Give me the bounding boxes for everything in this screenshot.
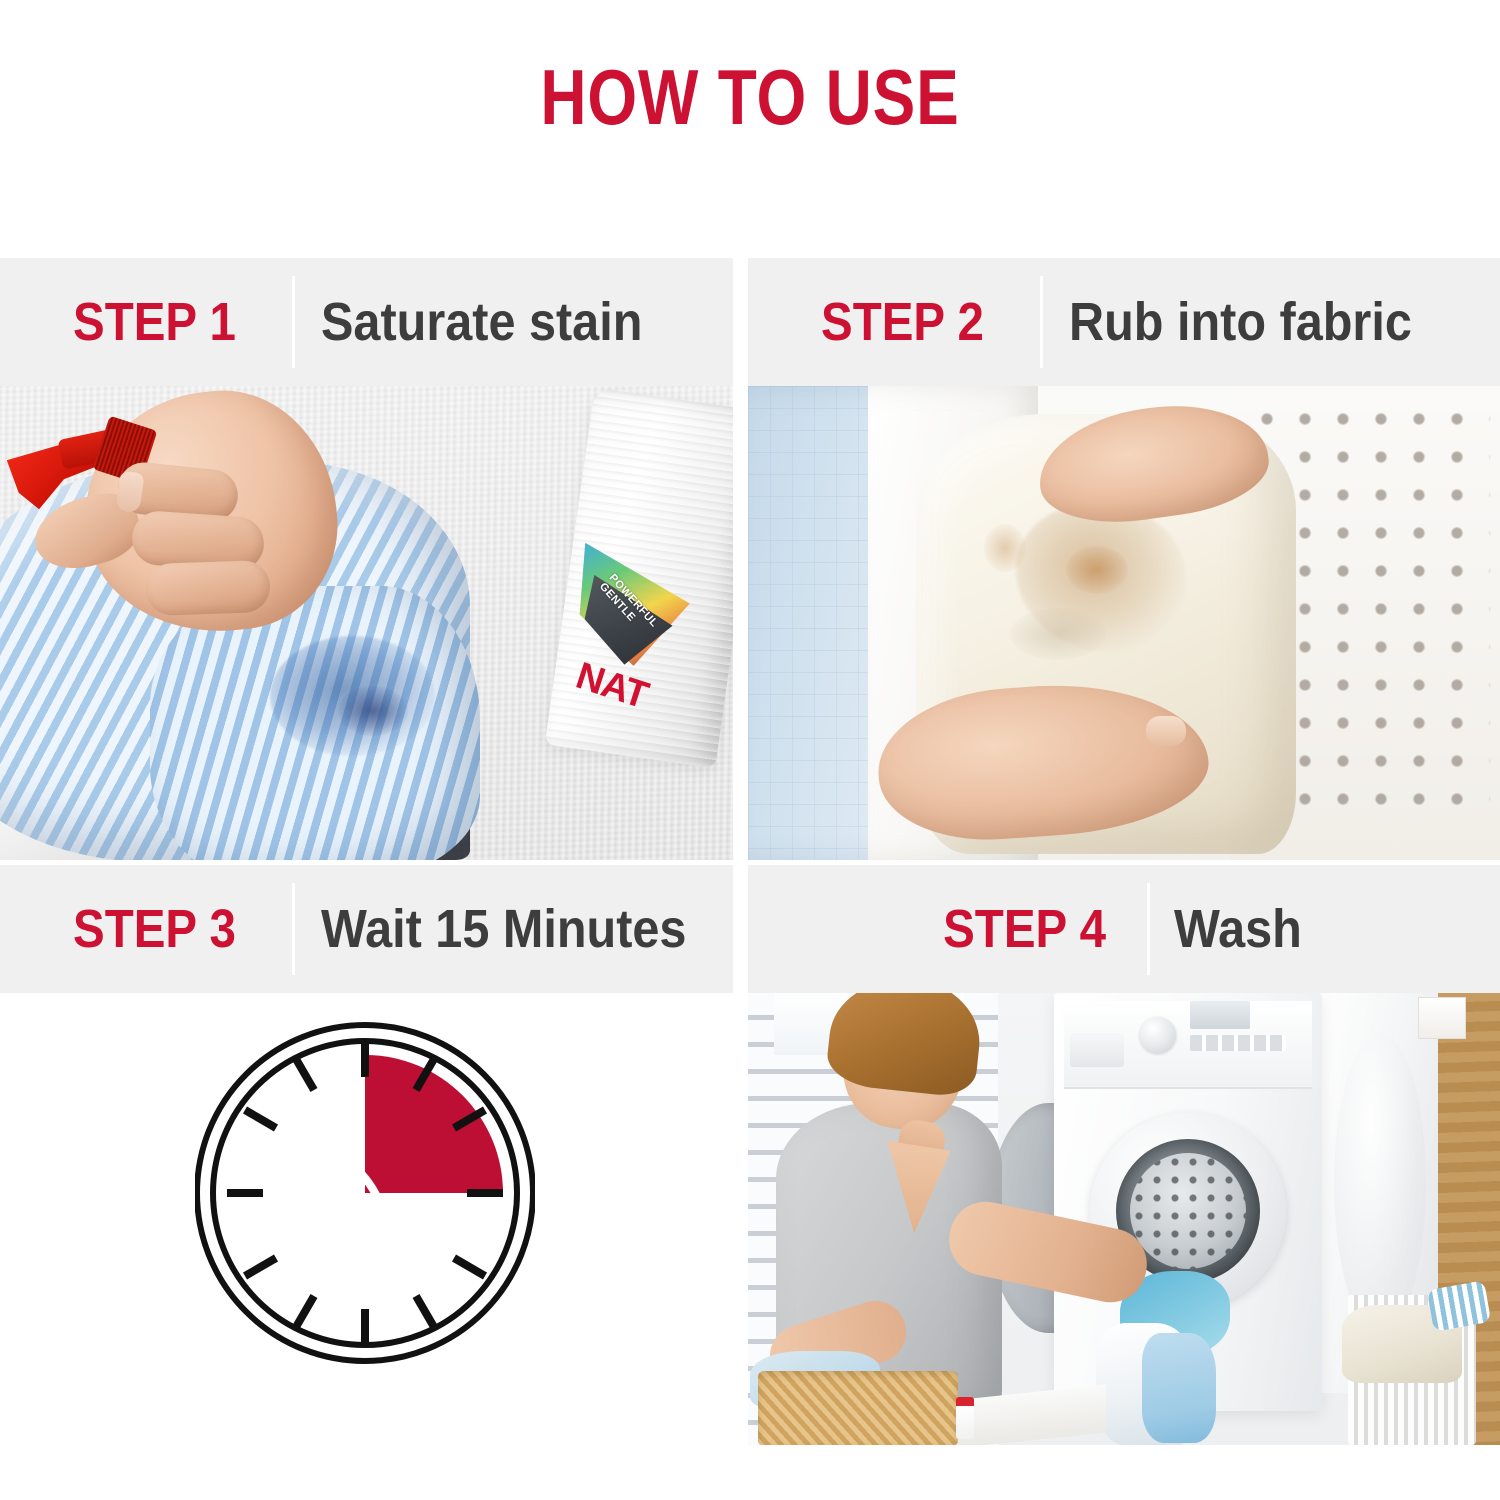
- clock-icon: [195, 1015, 535, 1375]
- stain-dark-spot: [1066, 546, 1128, 594]
- washer-display: [1190, 1001, 1250, 1029]
- page-title: HOW TO USE: [135, 58, 1365, 136]
- finger-ring: [145, 560, 271, 616]
- detergent-bottle: [956, 1397, 974, 1439]
- step-2-label: Rub into fabric: [1069, 291, 1412, 353]
- step-3-graphic: [0, 993, 733, 1500]
- step-2-photo: [748, 386, 1500, 860]
- drum-perforations: [1130, 1153, 1246, 1269]
- step-card-3: STEP 3 Wait 15 Minutes: [0, 865, 733, 1500]
- detergent-drawer: [1070, 1033, 1124, 1067]
- step-4-photo: [748, 993, 1500, 1445]
- step-3-number: STEP 3: [73, 898, 236, 960]
- stain-small-spot: [984, 524, 1026, 572]
- step-3-header: STEP 3 Wait 15 Minutes: [0, 865, 733, 993]
- step-2-number: STEP 2: [821, 291, 984, 353]
- program-knob: [1140, 1017, 1176, 1053]
- step-2-header: STEP 2 Rub into fabric: [748, 258, 1500, 386]
- shelf-box: [1418, 997, 1466, 1039]
- stain-splash: [1010, 608, 1106, 660]
- step-1-label: Saturate stain: [321, 291, 642, 353]
- step-card-2: STEP 2 Rub into fabric: [748, 258, 1500, 860]
- washer-buttons: [1190, 1035, 1286, 1051]
- step-1-photo: POWERFUL GENTLE NAT: [0, 386, 733, 860]
- wet-spray-patch-2: [338, 686, 408, 736]
- light-blue-laundry-item: [1142, 1333, 1216, 1443]
- step-1-divider: [292, 276, 295, 368]
- step-2-divider: [1040, 276, 1043, 368]
- step-1-header: STEP 1 Saturate stain: [0, 258, 733, 386]
- step-3-label: Wait 15 Minutes: [321, 898, 686, 960]
- step-card-1: STEP 1 Saturate stain POWERFUL GENTLE N: [0, 258, 733, 860]
- thumbnail: [1146, 716, 1186, 746]
- steps-grid: STEP 1 Saturate stain POWERFUL GENTLE N: [0, 258, 1500, 1500]
- cabinet-embossing: [1334, 1033, 1426, 1333]
- step-4-label: Wash: [1174, 898, 1302, 960]
- washer-drum: [1130, 1153, 1246, 1269]
- step-1-number: STEP 1: [73, 291, 236, 353]
- step-4-header: STEP 4 Wash: [748, 865, 1500, 993]
- wicker-basket: [758, 1371, 958, 1445]
- step-card-4: STEP 4 Wash: [748, 865, 1500, 1500]
- step-4-number: STEP 4: [943, 898, 1106, 960]
- step-4-divider: [1147, 883, 1150, 975]
- step-3-divider: [292, 883, 295, 975]
